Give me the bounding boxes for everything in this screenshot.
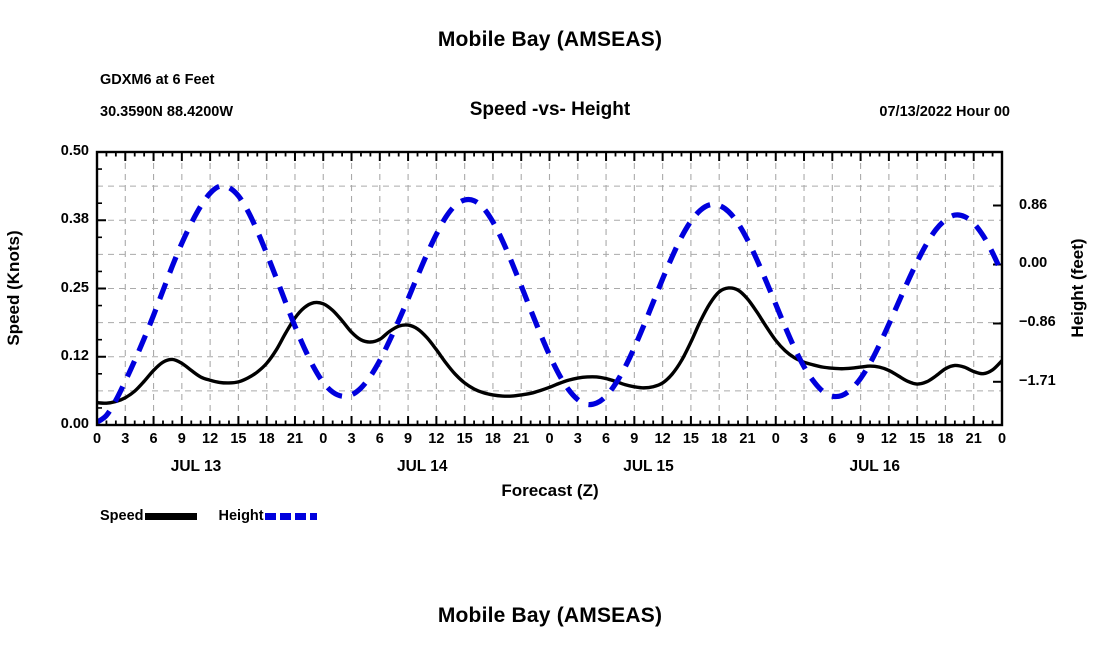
legend-entry-height: Height [219,508,335,524]
x-tick-label: 12 [876,431,902,447]
legend-swatch-height-line [265,513,317,520]
x-tick-label: 18 [706,431,732,447]
x-tick-label: 21 [282,431,308,447]
x-tick-label: 21 [508,431,534,447]
x-tick-label: 21 [961,431,987,447]
x-tick-label: 3 [565,431,591,447]
x-tick-label: 18 [932,431,958,447]
y-tick-right-label: −1.71 [1019,373,1089,389]
x-tick-label: 15 [225,431,251,447]
x-tick-label: 21 [734,431,760,447]
page-title: Mobile Bay (AMSEAS) [0,28,1100,52]
x-tick-label: 6 [367,431,393,447]
x-tick-label: 9 [169,431,195,447]
x-tick-label: 6 [593,431,619,447]
x-tick-label: 15 [904,431,930,447]
y-tick-left-label: 0.00 [29,416,89,432]
x-tick-label: 18 [480,431,506,447]
station-id-depth: GDXM6 at 6 Feet [100,72,214,88]
x-tick-label: 12 [650,431,676,447]
x-tick-label: 6 [819,431,845,447]
x-tick-label: 15 [452,431,478,447]
y-axis-left-title: Speed (Knots) [4,230,24,345]
y-tick-right-label: −0.86 [1019,314,1089,330]
x-tick-label: 9 [621,431,647,447]
x-day-label: JUL 15 [588,458,708,476]
y-tick-left-label: 0.38 [29,211,89,227]
x-tick-label: 15 [678,431,704,447]
legend-swatch-speed-line [145,513,197,520]
x-tick-label: 3 [112,431,138,447]
x-tick-label: 0 [537,431,563,447]
x-tick-label: 18 [254,431,280,447]
y-tick-left-label: 0.25 [29,280,89,296]
x-tick-label: 0 [763,431,789,447]
series-line-speed [97,288,1002,403]
x-day-label: JUL 13 [136,458,256,476]
x-tick-label: 12 [423,431,449,447]
x-axis-title: Forecast (Z) [0,481,1100,501]
x-tick-label: 9 [848,431,874,447]
x-tick-label: 0 [310,431,336,447]
legend-entry-speed: Speed [100,508,215,524]
y-tick-left-label: 0.50 [29,143,89,159]
x-tick-label: 3 [791,431,817,447]
plot-area [97,152,1002,425]
plot-canvas [97,152,1002,425]
model-run-timestamp: 07/13/2022 Hour 00 [879,104,1010,120]
chart-page: Mobile Bay (AMSEAS) GDXM6 at 6 Feet 30.3… [0,0,1100,650]
x-tick-label: 9 [395,431,421,447]
x-tick-label: 0 [989,431,1015,447]
y-tick-right-label: 0.00 [1019,255,1089,271]
x-tick-label: 12 [197,431,223,447]
x-tick-label: 6 [141,431,167,447]
y-tick-left-label: 0.12 [29,348,89,364]
legend-label-height: Height [219,508,264,524]
legend-label-speed: Speed [100,508,144,524]
x-day-label: JUL 14 [362,458,482,476]
legend: Speed Height [100,508,335,524]
footer-title: Mobile Bay (AMSEAS) [0,604,1100,628]
y-tick-right-label: 0.86 [1019,197,1089,213]
x-day-label: JUL 16 [815,458,935,476]
x-tick-label: 3 [339,431,365,447]
x-tick-label: 0 [84,431,110,447]
